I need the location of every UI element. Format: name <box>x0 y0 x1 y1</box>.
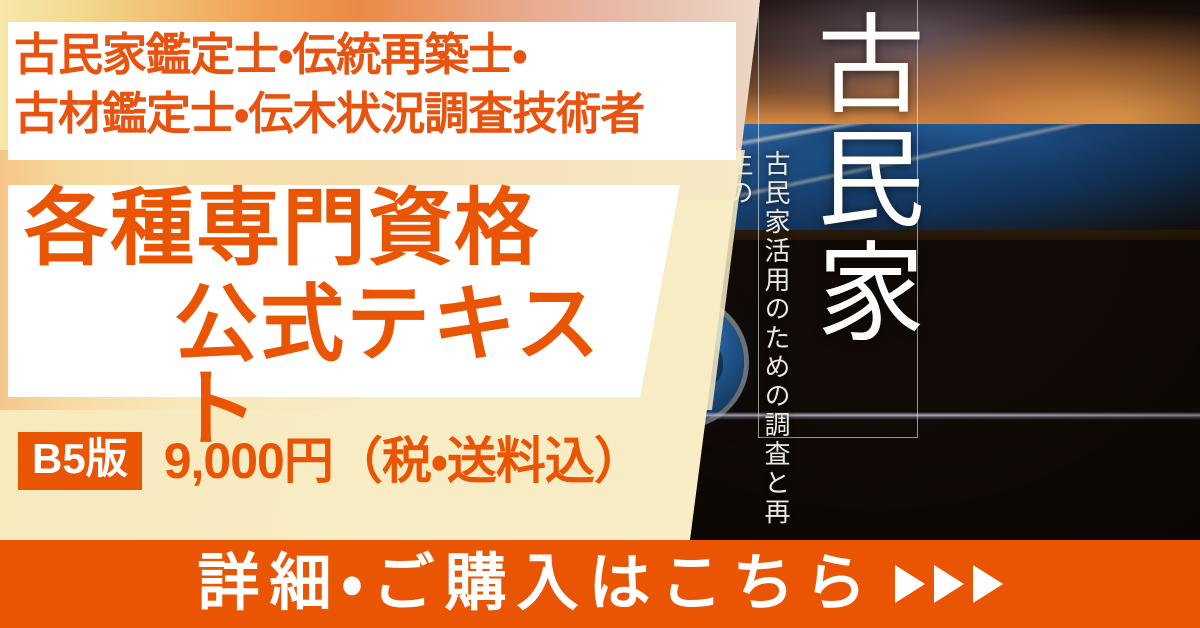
chevron-right-icon <box>934 565 964 603</box>
headline: 古民家鑑定士・伝統再築士・ 古材鑑定士・伝木状況調査技術者 <box>14 26 726 143</box>
main-title-line-1: 各種専門資格 <box>10 186 670 272</box>
cta-bar[interactable]: 詳細・ご購入はこちら <box>0 540 1200 628</box>
chevron-right-icon <box>895 565 925 603</box>
chevron-right-icon <box>973 565 1003 603</box>
price-text: 9,000円（税・送料込） <box>164 436 643 486</box>
promo-banner: 古民家 伝統構法 古民家活用のための調査と再生の 古民家鑑定士・伝統再築士・ 古… <box>0 0 1200 628</box>
main-title-line-2: 公式テキスト <box>10 282 670 453</box>
headline-line-2: 古材鑑定士・伝木状況調査技術者 <box>14 85 726 144</box>
cta-label: 詳細・ご購入はこちら <box>197 553 876 615</box>
price-row: B5版 9,000円（税・送料込） <box>18 432 643 490</box>
cta-arrows <box>895 565 1003 603</box>
headline-line-1: 古民家鑑定士・伝統再築士・ <box>14 29 527 80</box>
main-title: 各種専門資格 公式テキスト <box>10 186 670 453</box>
format-badge: B5版 <box>18 432 142 490</box>
